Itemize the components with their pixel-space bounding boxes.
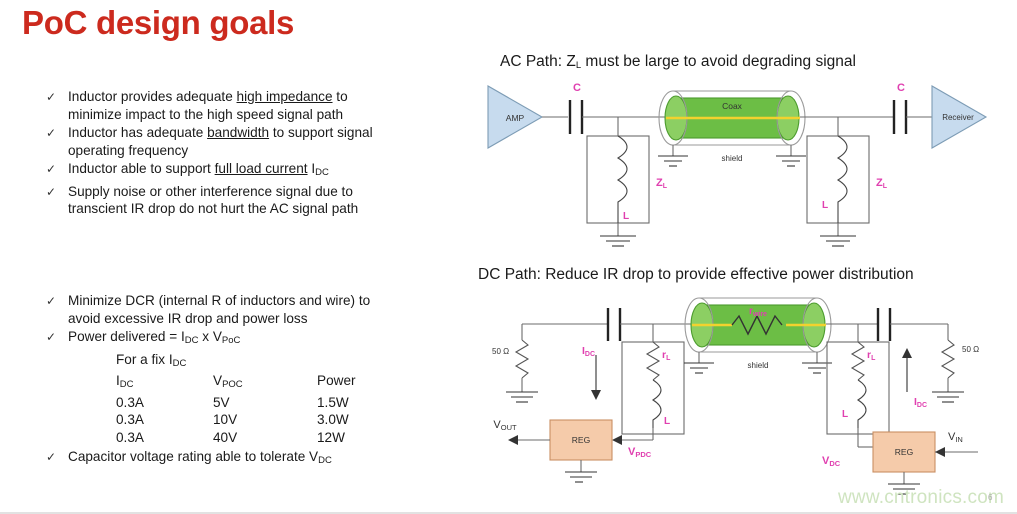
check-icon: ✓ bbox=[46, 448, 68, 466]
dc-inductor-label-left: L bbox=[664, 416, 670, 427]
inductor-label-right: L bbox=[822, 200, 828, 211]
fix-idc-label: For a fix IDC bbox=[116, 351, 466, 373]
b2-part-b: to support signal bbox=[269, 125, 373, 140]
dc-path-heading: DC Path: Reduce IR drop to provide effec… bbox=[478, 266, 914, 284]
idc-arrow-right bbox=[902, 348, 912, 358]
bullet-item-2: ✓ Inductor has adequate bandwidth to sup… bbox=[46, 124, 466, 159]
inductor-label-left: L bbox=[623, 211, 629, 222]
rl-label-left: rL bbox=[662, 349, 671, 362]
b1-underline: high impedance bbox=[237, 89, 333, 104]
watermark: www.cntronics.com bbox=[838, 487, 1004, 509]
col-header-vpoc: VPOC bbox=[213, 372, 317, 394]
check-icon: ✓ bbox=[46, 160, 68, 178]
dc-inductor-coil-left bbox=[653, 380, 661, 428]
bullet-item-3-text: Inductor able to support full load curre… bbox=[68, 160, 466, 182]
col-header-vpoc-text: V bbox=[213, 373, 222, 388]
page-number: 6 bbox=[988, 493, 992, 502]
col-header-power: Power bbox=[317, 372, 417, 394]
b3-part-a: Inductor able to support bbox=[68, 161, 215, 176]
bullet-item-6-text: Power delivered = IDC x VPoC bbox=[68, 328, 466, 350]
bullet-item-7-text: Capacitor voltage rating able to tolerat… bbox=[68, 448, 466, 470]
b3-subscript: DC bbox=[315, 167, 329, 178]
dc-path-diagram: rwire shield 50 Ω 50 Ω IDC IDC rL rL L L… bbox=[470, 292, 1015, 507]
cell-idc: 0.3A bbox=[116, 394, 213, 412]
vin-arrow bbox=[935, 447, 945, 457]
b6-part-b: x V bbox=[198, 329, 221, 344]
idc-label-right: IDC bbox=[914, 396, 927, 409]
bullet-list-top: ✓ Inductor provides adequate high impeda… bbox=[46, 88, 466, 219]
resistor-50ohm-right bbox=[942, 340, 954, 378]
col-header-idc: IDC bbox=[116, 372, 213, 394]
slide-canvas: PoC design goals ✓ Inductor provides ade… bbox=[0, 0, 1017, 514]
bullet-item-4: ✓ Supply noise or other interference sig… bbox=[46, 183, 466, 218]
b4-part-b: transcient IR drop do not hurt the AC si… bbox=[68, 201, 358, 216]
dc-shield-label: shield bbox=[748, 361, 769, 370]
vout-arrow bbox=[508, 435, 518, 445]
b3-underline: full load current bbox=[215, 161, 308, 176]
fix-idc-text: For a fix I bbox=[116, 352, 173, 367]
reg-label-left: REG bbox=[572, 435, 590, 445]
arrow-to-reg-left bbox=[612, 435, 622, 445]
receiver-label: Receiver bbox=[942, 113, 974, 122]
b6-sub-2: PoC bbox=[222, 335, 240, 346]
check-icon: ✓ bbox=[46, 292, 68, 310]
col-header-vpoc-sub: POC bbox=[222, 379, 243, 390]
check-icon: ✓ bbox=[46, 328, 68, 346]
vout-label: VOUT bbox=[493, 419, 517, 432]
bullet-item-1-text: Inductor provides adequate high impedanc… bbox=[68, 88, 466, 123]
cell-vpoc: 40V bbox=[213, 429, 317, 447]
bullet-item-4-text: Supply noise or other interference signa… bbox=[68, 183, 466, 218]
cap-label-right: C bbox=[897, 82, 905, 94]
b1-part-a: Inductor provides adequate bbox=[68, 89, 237, 104]
bullet-item-7: ✓ Capacitor voltage rating able to toler… bbox=[46, 448, 466, 470]
resistor-50ohm-right-label: 50 Ω bbox=[962, 345, 979, 354]
b2-part-c: operating frequency bbox=[68, 143, 188, 158]
b5-part-b: avoid excessive IR drop and power loss bbox=[68, 311, 308, 326]
cell-power: 12W bbox=[317, 429, 417, 447]
table-row: 0.3A 5V 1.5W bbox=[116, 394, 466, 412]
col-header-idc-sub: DC bbox=[120, 379, 134, 390]
b2-underline: bandwidth bbox=[207, 125, 269, 140]
power-table: IDC VPOC Power 0.3A 5V 1.5W 0.3A 10V 3.0… bbox=[116, 372, 466, 446]
bullet-item-3: ✓ Inductor able to support full load cur… bbox=[46, 160, 466, 182]
dc-resistor-rl-left bbox=[647, 342, 659, 380]
cell-idc: 0.3A bbox=[116, 429, 213, 447]
b3-part-b: I bbox=[308, 161, 316, 176]
b7-part-a: Capacitor voltage rating able to tolerat… bbox=[68, 449, 318, 464]
idc-arrow-left bbox=[591, 390, 601, 400]
check-icon: ✓ bbox=[46, 124, 68, 142]
bullet-item-1: ✓ Inductor provides adequate high impeda… bbox=[46, 88, 466, 123]
bullet-item-5: ✓ Minimize DCR (internal R of inductors … bbox=[46, 292, 466, 327]
resistor-50ohm-left bbox=[516, 340, 528, 378]
ac-head-b: must be large to avoid degrading signal bbox=[581, 53, 856, 70]
amp-label: AMP bbox=[506, 113, 525, 123]
idc-label-left: IDC bbox=[582, 345, 595, 358]
inductor-coil-right bbox=[838, 136, 847, 223]
check-icon: ✓ bbox=[46, 88, 68, 106]
bullet-list-bottom: ✓ Minimize DCR (internal R of inductors … bbox=[46, 292, 466, 471]
power-table-header-row: IDC VPOC Power bbox=[116, 372, 466, 394]
cell-idc: 0.3A bbox=[116, 411, 213, 429]
dc-inductor-label-right: L bbox=[842, 409, 848, 420]
shield-label: shield bbox=[722, 154, 743, 163]
dc-inductor-coil-right bbox=[858, 380, 866, 428]
table-row: 0.3A 10V 3.0W bbox=[116, 411, 466, 429]
b7-sub: DC bbox=[318, 455, 332, 466]
resistor-50ohm-left-label: 50 Ω bbox=[492, 347, 509, 356]
b6-sub-1: DC bbox=[185, 335, 199, 346]
zl-label-right: ZL bbox=[876, 177, 888, 190]
vpdc-label: VPDC bbox=[628, 446, 652, 459]
coax-label: Coax bbox=[722, 101, 743, 111]
vin-label: VIN bbox=[948, 431, 963, 444]
page-title: PoC design goals bbox=[22, 4, 294, 42]
cell-vpoc: 10V bbox=[213, 411, 317, 429]
b1-part-c: minimize impact to the high speed signal… bbox=[68, 107, 343, 122]
b6-part-a: Power delivered = I bbox=[68, 329, 185, 344]
inductor-coil-left bbox=[618, 136, 627, 223]
bullet-item-6: ✓ Power delivered = IDC x VPoC bbox=[46, 328, 466, 350]
vdc-label: VDC bbox=[822, 455, 841, 468]
table-row: 0.3A 40V 12W bbox=[116, 429, 466, 447]
reg-label-right: REG bbox=[895, 447, 913, 457]
bullet-item-2-text: Inductor has adequate bandwidth to suppo… bbox=[68, 124, 466, 159]
zl-label-left: ZL bbox=[656, 177, 668, 190]
ac-path-diagram: AMP Receiver Coax shield C C ZL ZL L L bbox=[470, 76, 1010, 251]
fix-idc-sub: DC bbox=[173, 358, 187, 369]
check-icon: ✓ bbox=[46, 183, 68, 201]
cell-power: 3.0W bbox=[317, 411, 417, 429]
dc-resistor-rl-right bbox=[852, 342, 864, 380]
b4-part-a: Supply noise or other interference signa… bbox=[68, 184, 353, 199]
rl-label-right: rL bbox=[867, 349, 876, 362]
b5-part-a: Minimize DCR (internal R of inductors an… bbox=[68, 293, 370, 308]
b2-part-a: Inductor has adequate bbox=[68, 125, 207, 140]
bullet-item-5-text: Minimize DCR (internal R of inductors an… bbox=[68, 292, 466, 327]
cell-vpoc: 5V bbox=[213, 394, 317, 412]
ac-path-heading: AC Path: ZL must be large to avoid degra… bbox=[500, 53, 856, 71]
ac-head-a: AC Path: Z bbox=[500, 53, 576, 70]
cell-power: 1.5W bbox=[317, 394, 417, 412]
b1-part-b: to bbox=[333, 89, 348, 104]
cap-label-left: C bbox=[573, 82, 581, 94]
